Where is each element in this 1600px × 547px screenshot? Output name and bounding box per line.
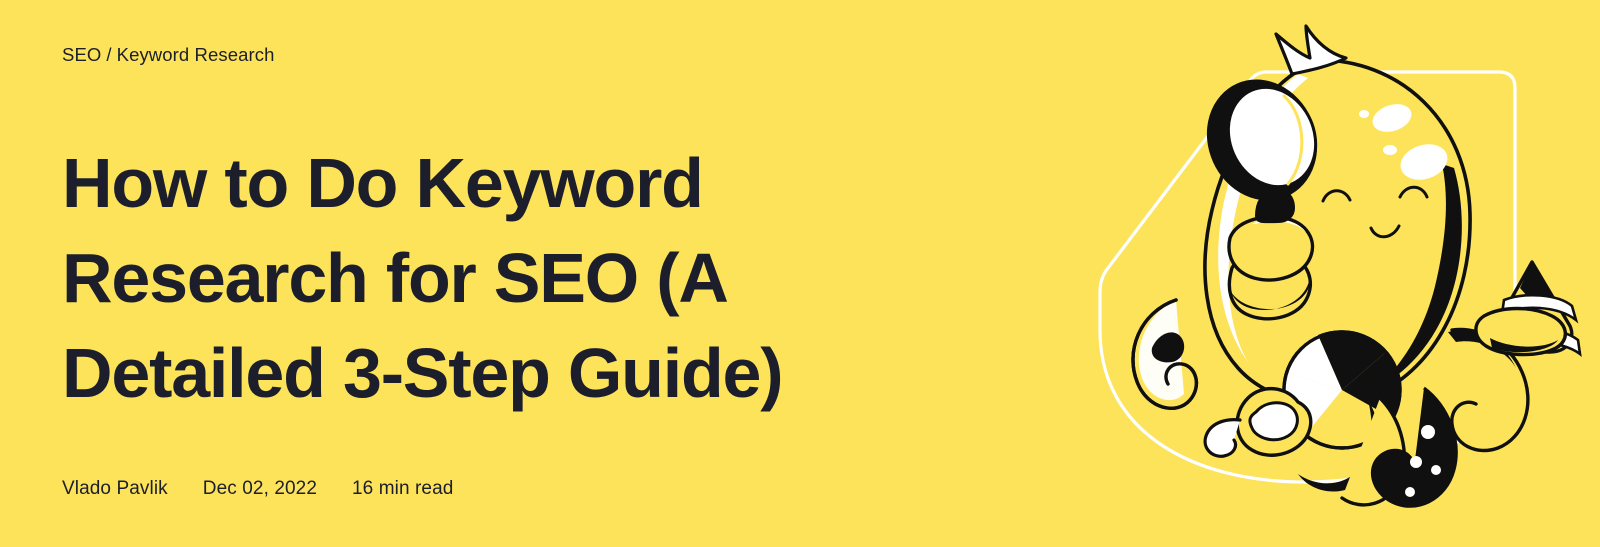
breadcrumb: SEO/Keyword Research	[62, 43, 275, 67]
read-time: 16 min read	[352, 476, 453, 502]
page-title-line-2: Research for SEO (A	[62, 231, 962, 326]
article-hero-banner: SEO/Keyword Research How to Do Keyword R…	[0, 0, 1600, 547]
octopus-mascot-illustration	[1080, 0, 1600, 547]
author-name[interactable]: Vlado Pavlik	[62, 476, 168, 502]
breadcrumb-item-keyword-research[interactable]: Keyword Research	[117, 44, 275, 65]
publish-date: Dec 02, 2022	[203, 476, 317, 502]
page-title-line-3: Detailed 3-Step Guide)	[62, 326, 962, 421]
hero-text-column: SEO/Keyword Research How to Do Keyword R…	[62, 0, 1022, 547]
breadcrumb-separator: /	[101, 43, 116, 67]
page-title: How to Do Keyword Research for SEO (A De…	[62, 136, 962, 421]
article-meta: Vlado Pavlik Dec 02, 2022 16 min read	[62, 476, 453, 502]
octopus-tentacles-back	[1133, 300, 1196, 408]
page-title-line-1: How to Do Keyword	[62, 136, 962, 231]
octopus-tentacle-lower-left	[1205, 389, 1311, 457]
breadcrumb-item-seo[interactable]: SEO	[62, 44, 101, 65]
